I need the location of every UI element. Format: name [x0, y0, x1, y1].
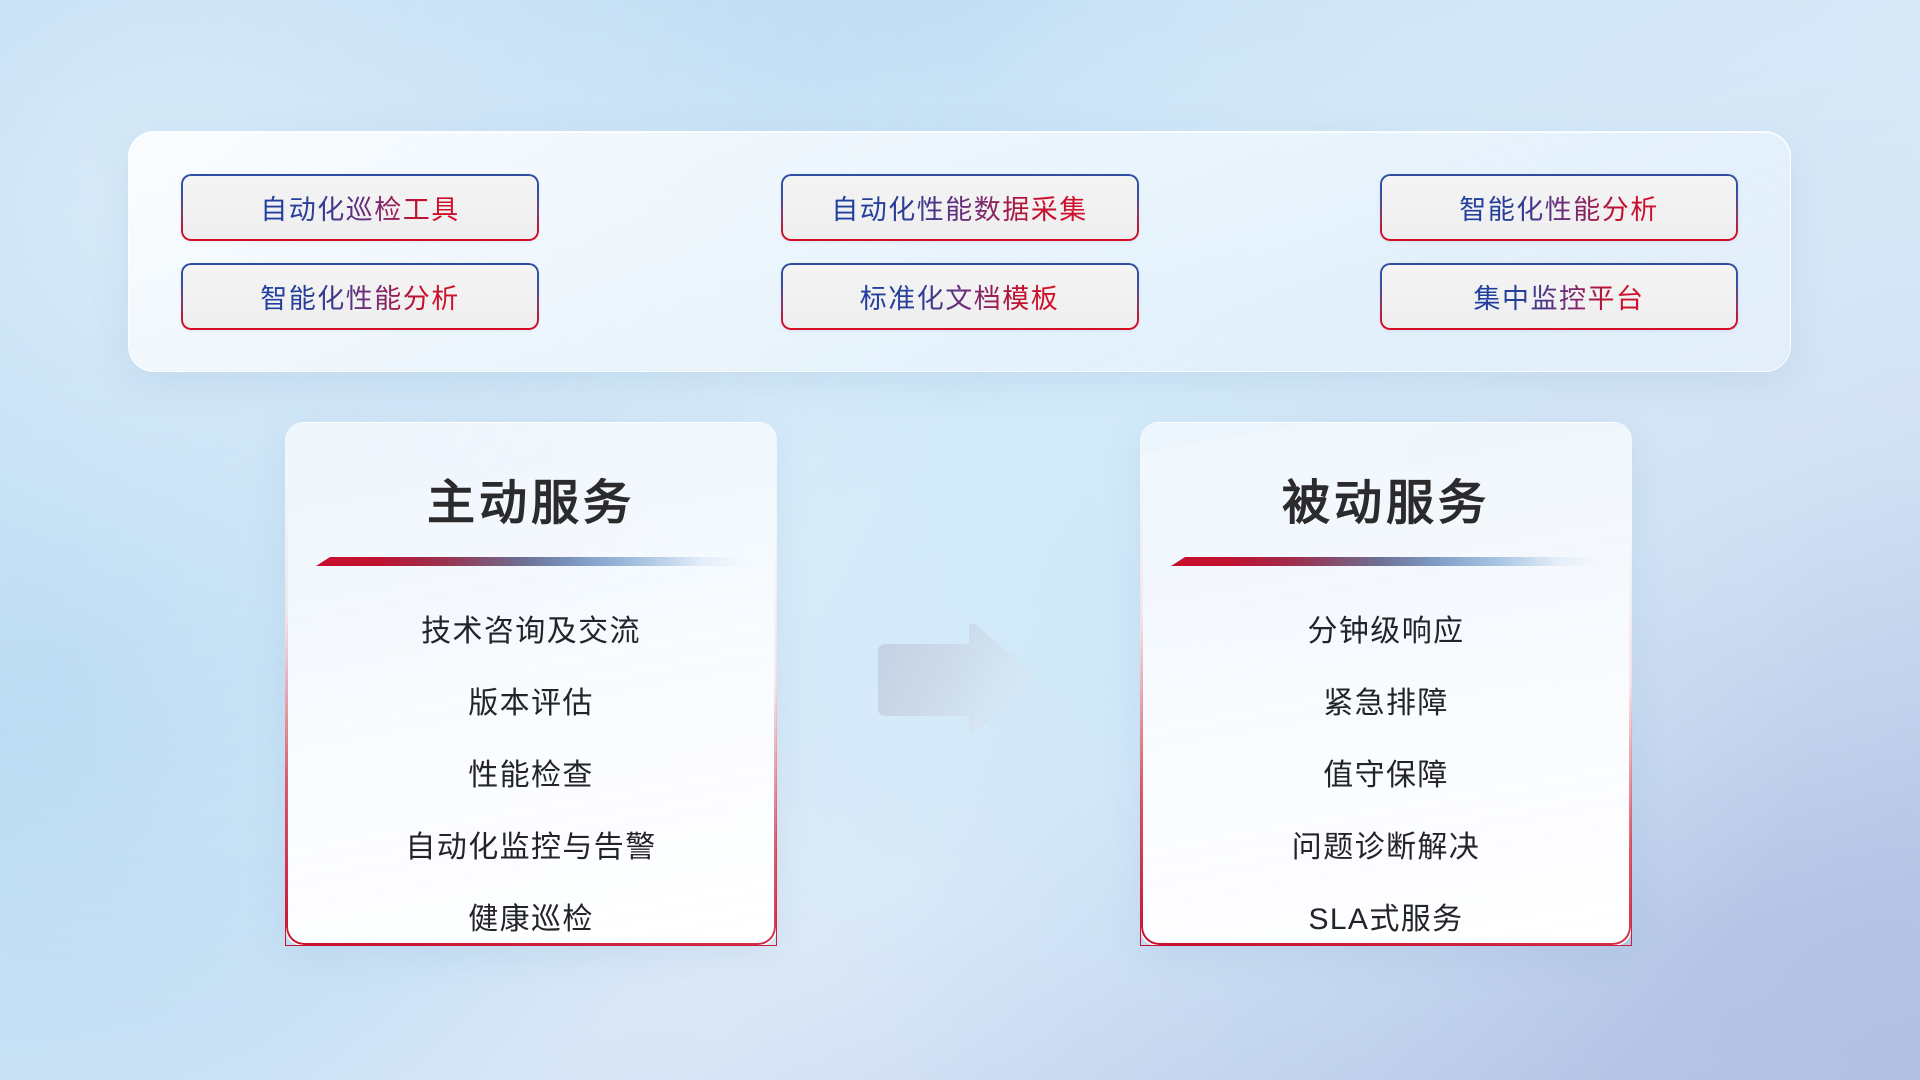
- capability-chip-standardized-document-template[interactable]: 标准化文档模板: [781, 263, 1139, 330]
- list-item: 值守保障: [1141, 740, 1631, 812]
- active-service-card: 主动服务 技术咨询及交流 版本评估 性能检查 自动化监控与告警 健康巡检: [285, 422, 777, 946]
- arrow-right-icon: [872, 620, 1037, 740]
- capability-chip-automated-inspection-tool[interactable]: 自动化巡检工具: [181, 174, 539, 241]
- list-item: 技术咨询及交流: [286, 596, 776, 668]
- slide-canvas: 自动化巡检工具 自动化性能数据采集 智能化性能分析 智能化性能分析 标准化文档模…: [0, 0, 1920, 1080]
- capabilities-panel: 自动化巡检工具 自动化性能数据采集 智能化性能分析 智能化性能分析 标准化文档模…: [128, 131, 1791, 372]
- capability-chip-label: 标准化文档模板: [860, 277, 1060, 316]
- list-item: 问题诊断解决: [1141, 812, 1631, 884]
- capability-chip-label: 自动化性能数据采集: [831, 188, 1088, 227]
- passive-service-title: 被动服务: [1141, 423, 1631, 533]
- passive-service-list: 分钟级响应 紧急排障 值守保障 问题诊断解决 SLA式服务: [1141, 566, 1631, 946]
- passive-service-card: 被动服务 分钟级响应 紧急排障 值守保障 问题诊断解决 SLA式服务: [1140, 422, 1632, 946]
- active-service-title: 主动服务: [286, 423, 776, 533]
- capability-chip-label: 集中监控平台: [1474, 277, 1645, 316]
- list-item: 版本评估: [286, 668, 776, 740]
- capability-chip-intelligent-performance-analysis[interactable]: 智能化性能分析: [1380, 174, 1738, 241]
- list-item: 性能检查: [286, 740, 776, 812]
- capability-row-1: 自动化巡检工具 自动化性能数据采集 智能化性能分析: [181, 174, 1738, 241]
- passive-service-divider: [1171, 557, 1601, 566]
- capability-chip-automated-performance-data-collection[interactable]: 自动化性能数据采集: [781, 174, 1139, 241]
- capability-chip-intelligent-performance-analysis-2[interactable]: 智能化性能分析: [181, 263, 539, 330]
- capability-chip-label: 自动化巡检工具: [260, 188, 460, 227]
- capability-chip-label: 智能化性能分析: [1459, 188, 1659, 227]
- list-item: SLA式服务: [1141, 884, 1631, 946]
- capability-row-2: 智能化性能分析 标准化文档模板 集中监控平台: [181, 263, 1738, 330]
- active-service-list: 技术咨询及交流 版本评估 性能检查 自动化监控与告警 健康巡检: [286, 566, 776, 946]
- capability-chip-label: 智能化性能分析: [260, 277, 460, 316]
- active-service-divider: [316, 557, 746, 566]
- list-item: 紧急排障: [1141, 668, 1631, 740]
- list-item: 分钟级响应: [1141, 596, 1631, 668]
- list-item: 自动化监控与告警: [286, 812, 776, 884]
- list-item: 健康巡检: [286, 884, 776, 946]
- capability-chip-centralized-monitoring-platform[interactable]: 集中监控平台: [1380, 263, 1738, 330]
